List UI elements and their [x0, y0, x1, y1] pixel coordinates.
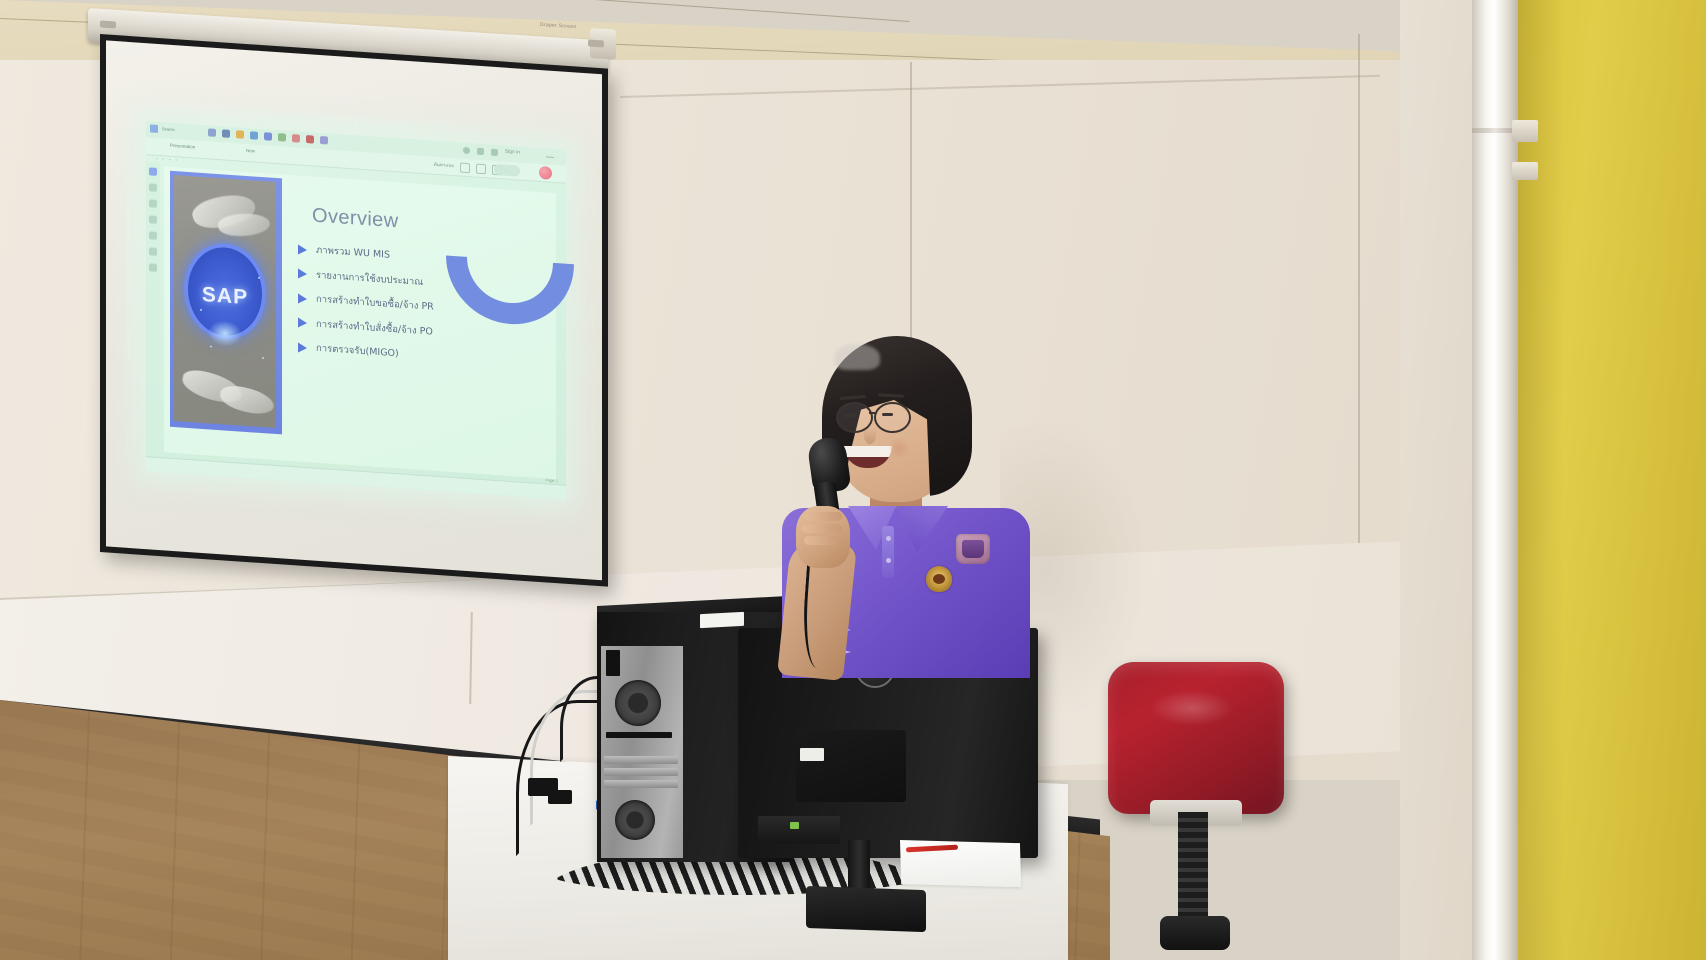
bullet-label: รายงานการใช้งบประมาณ	[316, 267, 423, 289]
new-tab-button[interactable]: New	[246, 148, 255, 154]
eyeglasses-bridge	[869, 412, 875, 414]
bullet-label: ภาพรวม WU MIS	[316, 243, 390, 263]
finger	[804, 512, 842, 521]
screen-mount	[588, 39, 604, 47]
sap-illustration: SAP	[174, 175, 276, 428]
io-port	[606, 732, 672, 738]
bookmark-icon[interactable]	[491, 149, 498, 156]
sparkle-icon	[210, 345, 212, 347]
brand-icon[interactable]	[149, 215, 157, 224]
expansion-slot	[604, 780, 678, 788]
psu-fan-vent	[615, 800, 655, 840]
page-indicator: Page 1	[545, 477, 558, 483]
chrome-icon[interactable]	[250, 131, 258, 140]
bullet-label: การสร้างทำใบขอซื้อ/จ้าง PR	[316, 292, 434, 315]
slide-image-frame: SAP	[170, 171, 282, 435]
power-led-icon	[790, 822, 799, 829]
sap-label: SAP	[202, 283, 248, 310]
projects-icon[interactable]	[149, 263, 157, 272]
teeth	[844, 446, 892, 457]
logo-inner-mark	[933, 574, 945, 584]
search-input[interactable]: ค้นหาแบบ	[434, 161, 454, 169]
nose	[864, 428, 876, 444]
shirt-placket	[882, 526, 894, 578]
sign-in-button[interactable]: Sign in	[505, 149, 520, 156]
elements-icon[interactable]	[149, 183, 157, 192]
expansion-slot	[604, 756, 678, 764]
mail-icon[interactable]	[306, 135, 314, 144]
io-port	[606, 650, 620, 676]
chair-gas-lift	[1178, 812, 1208, 920]
monitor-label-sticker	[800, 748, 824, 761]
word-icon[interactable]	[264, 132, 272, 141]
uploads-icon[interactable]	[149, 231, 157, 240]
room-photo-scene: Draper Screen Sign in Presentation New ค…	[0, 0, 1706, 960]
monitor-stand-base	[806, 886, 926, 932]
chair-highlight	[1150, 690, 1234, 726]
explorer-icon[interactable]	[222, 129, 230, 138]
clock-icon[interactable]	[463, 147, 470, 154]
start-icon[interactable]	[150, 124, 158, 133]
tower-sticker	[700, 612, 744, 628]
finger	[804, 536, 840, 545]
bullet-label: การตรวจรับ(MIGO)	[316, 341, 399, 362]
monitor-port-panel	[758, 816, 840, 844]
list-icon[interactable]	[477, 148, 484, 155]
redo-icon[interactable]	[476, 164, 486, 175]
eyeglasses-right-lens-icon	[874, 402, 911, 433]
projected-application: Sign in Presentation New ค้นหาแบบ ▫ ▫ ▫ …	[146, 121, 566, 500]
cpu-fan-vent	[615, 680, 661, 726]
triangle-bullet-icon	[298, 244, 307, 255]
cheek-highlight	[886, 438, 912, 458]
pdf-icon[interactable]	[292, 134, 300, 143]
power-plug	[548, 790, 572, 804]
shirt-button	[886, 536, 891, 541]
taskbar-search[interactable]: Search	[162, 126, 175, 132]
teams-icon[interactable]	[320, 136, 328, 145]
office-chair-back[interactable]	[1108, 662, 1284, 814]
avatar[interactable]	[539, 166, 552, 180]
triangle-bullet-icon	[298, 293, 307, 304]
hair-highlight	[834, 344, 880, 370]
slide-title: Overview	[312, 204, 399, 233]
screen-surface: Sign in Presentation New ค้นหาแบบ ▫ ▫ ▫ …	[106, 40, 602, 580]
pipe-clamp	[1512, 162, 1538, 180]
triangle-bullet-icon	[298, 342, 307, 353]
sparkle-icon	[200, 309, 202, 311]
bullet-label: การสร้างทำใบสั่งซื้อ/จ้าง PO	[316, 316, 433, 339]
slide-bullet-list: ภาพรวม WU MIS รายงานการใช้งบประมาณ การสร…	[298, 241, 548, 381]
design-icon[interactable]	[149, 167, 157, 176]
sparkle-icon	[258, 277, 260, 279]
presenter	[770, 330, 1030, 670]
ceiling-seam	[480, 0, 909, 22]
projector-screen: Sign in Presentation New ค้นหาแบบ ▫ ▫ ▫ …	[100, 34, 608, 587]
vertical-pipe	[1472, 0, 1518, 960]
shirt-button	[886, 558, 891, 563]
text-icon[interactable]	[149, 199, 157, 208]
chair-base-hub	[1160, 916, 1230, 950]
slide-canvas[interactable]: SAP Overview ภาพรวม W	[164, 166, 556, 479]
pipe-clamp	[1512, 120, 1538, 142]
tools-icon[interactable]	[149, 247, 157, 256]
finger	[802, 524, 842, 533]
triangle-bullet-icon	[298, 317, 307, 328]
edge-icon[interactable]	[208, 128, 216, 137]
screen-mount	[100, 20, 116, 28]
undo-icon[interactable]	[460, 163, 470, 174]
sparkle-icon	[262, 357, 264, 359]
expansion-slot	[604, 768, 678, 776]
excel-icon[interactable]	[278, 133, 286, 142]
sleeve-patch-inner	[962, 540, 984, 558]
hand-illustration	[219, 383, 276, 418]
monitor-rear-inset	[796, 730, 906, 802]
folder-icon[interactable]	[236, 130, 244, 139]
triangle-bullet-icon	[298, 268, 307, 279]
share-button[interactable]	[494, 164, 520, 177]
